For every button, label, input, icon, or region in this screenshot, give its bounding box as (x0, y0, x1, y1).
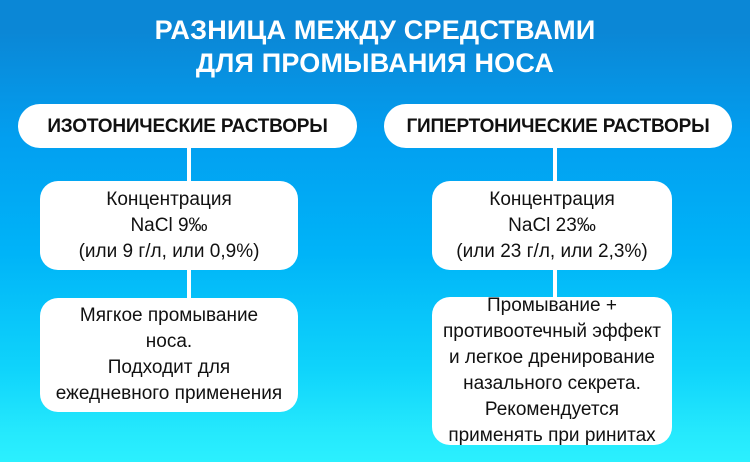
hypertonic-description-line-1: Промывание + (432, 293, 672, 319)
page-title-line-1: РАЗНИЦА МЕЖДУ СРЕДСТВАМИ (0, 14, 750, 47)
card-isotonic-concentration: Концентрация NaCl 9‰ (или 9 г/л, или 0,9… (40, 181, 298, 270)
hypertonic-description-line-4: назального секрета. (432, 371, 672, 397)
card-hypertonic-description: Промывание + противоотечный эффект и лег… (432, 297, 672, 445)
hypertonic-description-line-3: и легкое дренирование (432, 345, 672, 371)
header-isotonic-solutions: ИЗОТОНИЧЕСКИЕ РАСТВОРЫ (18, 104, 357, 148)
connector-left-concentration-to-description (187, 266, 191, 300)
isotonic-description-text: Мягкое промывание носа. Подходит для еже… (40, 303, 298, 407)
isotonic-description-line-3: Подходит для (40, 355, 298, 381)
connector-left-header-to-concentration (187, 146, 191, 184)
infographic-root: РАЗНИЦА МЕЖДУ СРЕДСТВАМИ ДЛЯ ПРОМЫВАНИЯ … (0, 0, 750, 462)
isotonic-description-line-2: носа. (40, 329, 298, 355)
hypertonic-description-line-6: применять при ринитах (432, 423, 672, 449)
header-hypertonic-solutions: ГИПЕРТОНИЧЕСКИЕ РАСТВОРЫ (384, 104, 732, 148)
isotonic-concentration-line-2: NaCl 9‰ (40, 213, 298, 239)
header-isotonic-label: ИЗОТОНИЧЕСКИЕ РАСТВОРЫ (18, 115, 357, 138)
hypertonic-description-text: Промывание + противоотечный эффект и лег… (432, 293, 672, 449)
hypertonic-description-line-2: противоотечный эффект (432, 319, 672, 345)
hypertonic-concentration-line-3: (или 23 г/л, или 2,3%) (432, 239, 672, 265)
isotonic-description-line-1: Мягкое промывание (40, 303, 298, 329)
isotonic-concentration-text: Концентрация NaCl 9‰ (или 9 г/л, или 0,9… (40, 187, 298, 265)
isotonic-description-line-4: ежедневного применения (40, 381, 298, 407)
connector-right-header-to-concentration (553, 146, 557, 184)
isotonic-concentration-line-3: (или 9 г/л, или 0,9%) (40, 239, 298, 265)
page-title-line-2: ДЛЯ ПРОМЫВАНИЯ НОСА (0, 47, 750, 80)
hypertonic-concentration-line-1: Концентрация (432, 187, 672, 213)
card-isotonic-description: Мягкое промывание носа. Подходит для еже… (40, 298, 298, 412)
hypertonic-description-line-5: Рекомендуется (432, 397, 672, 423)
page-title: РАЗНИЦА МЕЖДУ СРЕДСТВАМИ ДЛЯ ПРОМЫВАНИЯ … (0, 14, 750, 80)
card-hypertonic-concentration: Концентрация NaCl 23‰ (или 23 г/л, или 2… (432, 181, 672, 270)
hypertonic-concentration-text: Концентрация NaCl 23‰ (или 23 г/л, или 2… (432, 187, 672, 265)
isotonic-concentration-line-1: Концентрация (40, 187, 298, 213)
header-hypertonic-label: ГИПЕРТОНИЧЕСКИЕ РАСТВОРЫ (384, 115, 732, 138)
hypertonic-concentration-line-2: NaCl 23‰ (432, 213, 672, 239)
